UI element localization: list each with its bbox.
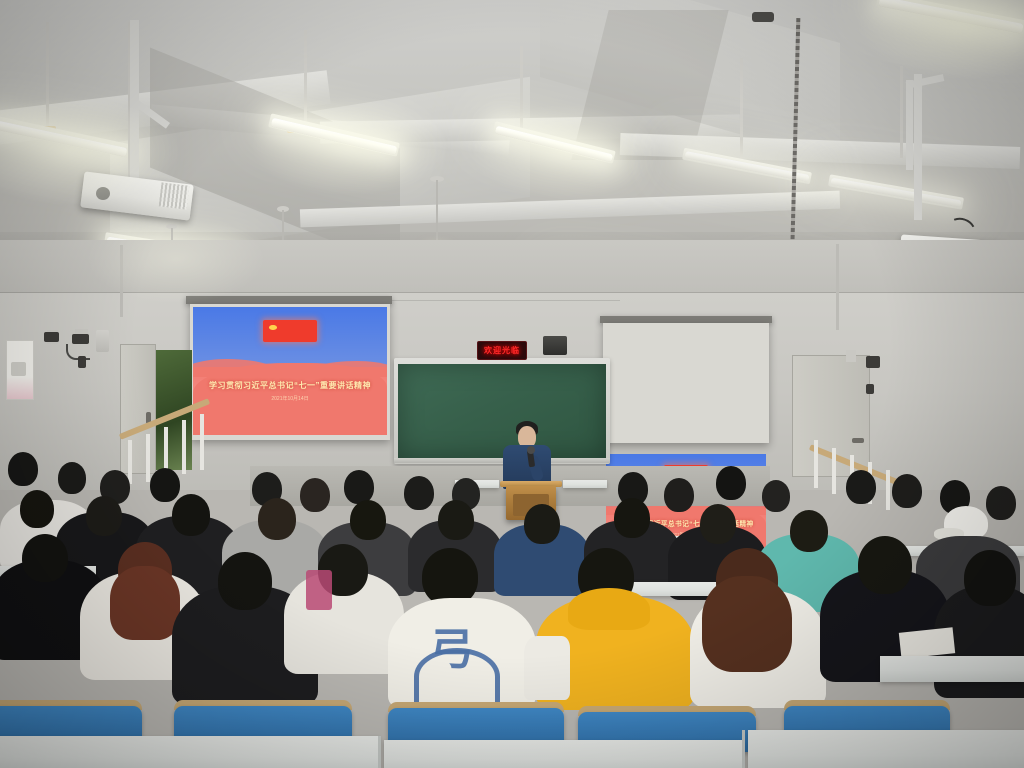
lecture-desk [748, 730, 1024, 768]
security-camera [72, 334, 89, 344]
seated-student [986, 486, 1016, 520]
railing-post [814, 440, 818, 488]
led-welcome-sign[interactable]: 欢迎光临 [477, 341, 527, 360]
microphone-head [527, 446, 535, 454]
wall-speaker [96, 330, 109, 352]
chalk-tray [394, 458, 610, 463]
projector-lens [96, 187, 110, 200]
projector-vent [159, 182, 190, 209]
seated-student [614, 498, 650, 538]
left-screen-housing [186, 296, 392, 304]
seated-student [790, 510, 828, 552]
wall-seam [390, 300, 620, 301]
seated-student [258, 498, 296, 540]
wall-seam [0, 292, 1024, 293]
desk-edge [378, 736, 381, 768]
seated-student [700, 504, 736, 544]
seated-student [404, 476, 434, 510]
railing-post [886, 470, 890, 510]
lecture-hall-photo: 学习贯彻习近平总书记“七一”重要讲话精神 2021年10月14日 学习贯彻习近平… [0, 0, 1024, 768]
seated-student [344, 470, 374, 504]
seated-student [86, 496, 122, 536]
pendant-lamp-wire [436, 180, 438, 242]
seated-student [8, 452, 38, 486]
railing-post [128, 440, 132, 484]
seated-student [172, 494, 210, 536]
seated-student [218, 552, 272, 610]
hoodie-hood [568, 588, 650, 630]
security-camera [78, 356, 86, 368]
classroom-door [120, 344, 156, 474]
right-screen-housing [600, 316, 772, 323]
lecture-desk [384, 740, 744, 768]
railing-post [200, 414, 204, 470]
light-rod [740, 58, 743, 162]
seated-student [438, 500, 474, 540]
right-projection-screen [603, 323, 769, 443]
desk-edge [742, 730, 745, 768]
seated-student [964, 550, 1016, 606]
railing-post [832, 448, 836, 494]
light-rod [900, 66, 903, 158]
seated-student [350, 500, 386, 540]
door-handle [852, 438, 864, 443]
led-sign-text: 欢迎光临 [484, 345, 520, 356]
light-rod [304, 30, 307, 126]
seated-student [716, 466, 746, 500]
seated-student [858, 536, 912, 594]
railing-post [146, 434, 150, 482]
wall-conduit [836, 244, 839, 330]
wall-speaker [543, 336, 567, 355]
wall-conduit [120, 245, 123, 317]
hanging-chain-anchor [752, 12, 774, 22]
seated-student [524, 504, 560, 544]
seated-student [664, 478, 694, 512]
seated-student [20, 490, 54, 528]
projector-mount-pole [906, 80, 913, 170]
long-hair [702, 576, 792, 672]
light-rod [46, 22, 49, 132]
lecture-desk [0, 736, 380, 768]
seated-student [892, 474, 922, 508]
security-camera [866, 384, 874, 394]
seated-student [22, 534, 68, 582]
seated-student [150, 468, 180, 502]
light-rod [520, 46, 523, 136]
seated-student [846, 470, 876, 504]
hoodie-sleeve [524, 636, 570, 700]
security-camera [866, 356, 880, 368]
security-camera [44, 332, 59, 342]
seated-student [762, 480, 790, 512]
flag-star [269, 325, 277, 330]
slide-date: 2021年10月14日 [193, 395, 387, 402]
poster-graphic [11, 362, 26, 376]
green-chalkboard [398, 364, 606, 458]
jacket-logo-arc [414, 648, 500, 705]
seated-student [58, 462, 86, 494]
projector-mount-pole [914, 74, 922, 220]
slide-title: 学习贯彻习近平总书记“七一”重要讲话精神 [193, 380, 387, 391]
seated-student [300, 478, 330, 512]
left-slide-content: 学习贯彻习近平总书记“七一”重要讲话精神 2021年10月14日 [193, 307, 387, 435]
lecture-desk [880, 656, 1024, 682]
camera-mount [846, 350, 856, 362]
chinese-flag-emblem [263, 320, 317, 342]
wall-upper-band [0, 240, 1024, 292]
long-hair [110, 566, 180, 640]
stage-side-table [563, 480, 607, 488]
railing-post [182, 420, 186, 474]
jacket-accent-patch [306, 570, 332, 610]
